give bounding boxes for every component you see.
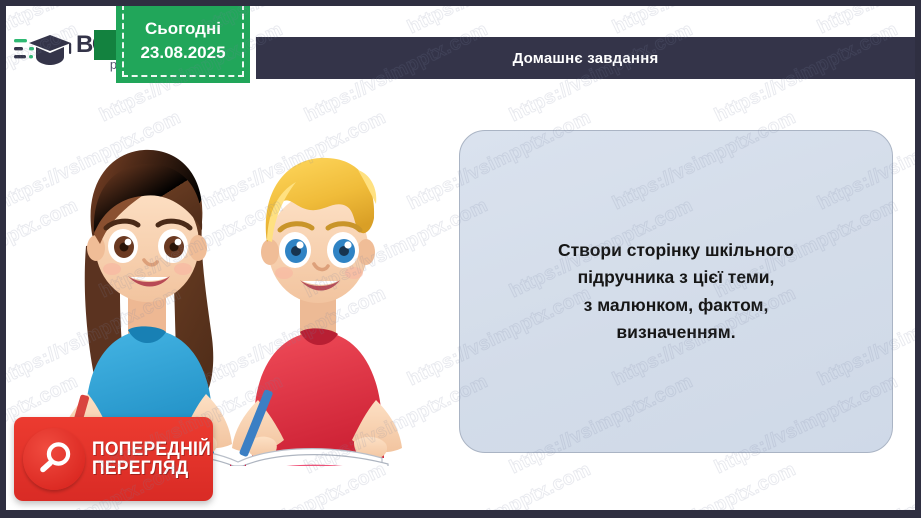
date-badge: Сьогодні 23.08.2025	[116, 6, 250, 83]
watermark-text: https://vsimpptx.com	[199, 459, 389, 510]
watermark-text: https://vsimpptx.com	[814, 459, 915, 510]
date-badge-label: Сьогодні	[145, 18, 221, 39]
watermark-text: https://vsimpptx.com	[609, 6, 799, 39]
children-homework-illustration	[24, 126, 454, 466]
watermark-text: https://vsimpptx.com	[814, 6, 915, 39]
header-bar: Домашнє завдання	[256, 37, 915, 79]
preview-badge[interactable]: ПОПЕРЕДНІЙ ПЕРЕГЛЯД	[14, 417, 213, 501]
date-badge-date: 23.08.2025	[140, 42, 225, 63]
watermark-text: https://vsimpptx.com	[404, 6, 594, 39]
watermark-text: https://vsimpptx.com	[404, 459, 594, 510]
watermark-text: https://vsimpptx.com	[609, 459, 799, 510]
page-title: Домашнє завдання	[513, 50, 659, 67]
magnifier-icon	[23, 428, 85, 490]
slide-canvas: Створи сторінку шкільного підручника з ц…	[6, 6, 915, 510]
homework-task-box: Створи сторінку шкільного підручника з ц…	[459, 130, 893, 453]
graduation-cap-icon	[14, 33, 72, 72]
preview-badge-label: ПОПЕРЕДНІЙ ПЕРЕГЛЯД	[92, 440, 211, 478]
slide-frame: Створи сторінку шкільного підручника з ц…	[0, 0, 921, 518]
homework-task-text: Створи сторінку шкільного підручника з ц…	[532, 237, 820, 346]
girl-figure	[60, 150, 232, 456]
